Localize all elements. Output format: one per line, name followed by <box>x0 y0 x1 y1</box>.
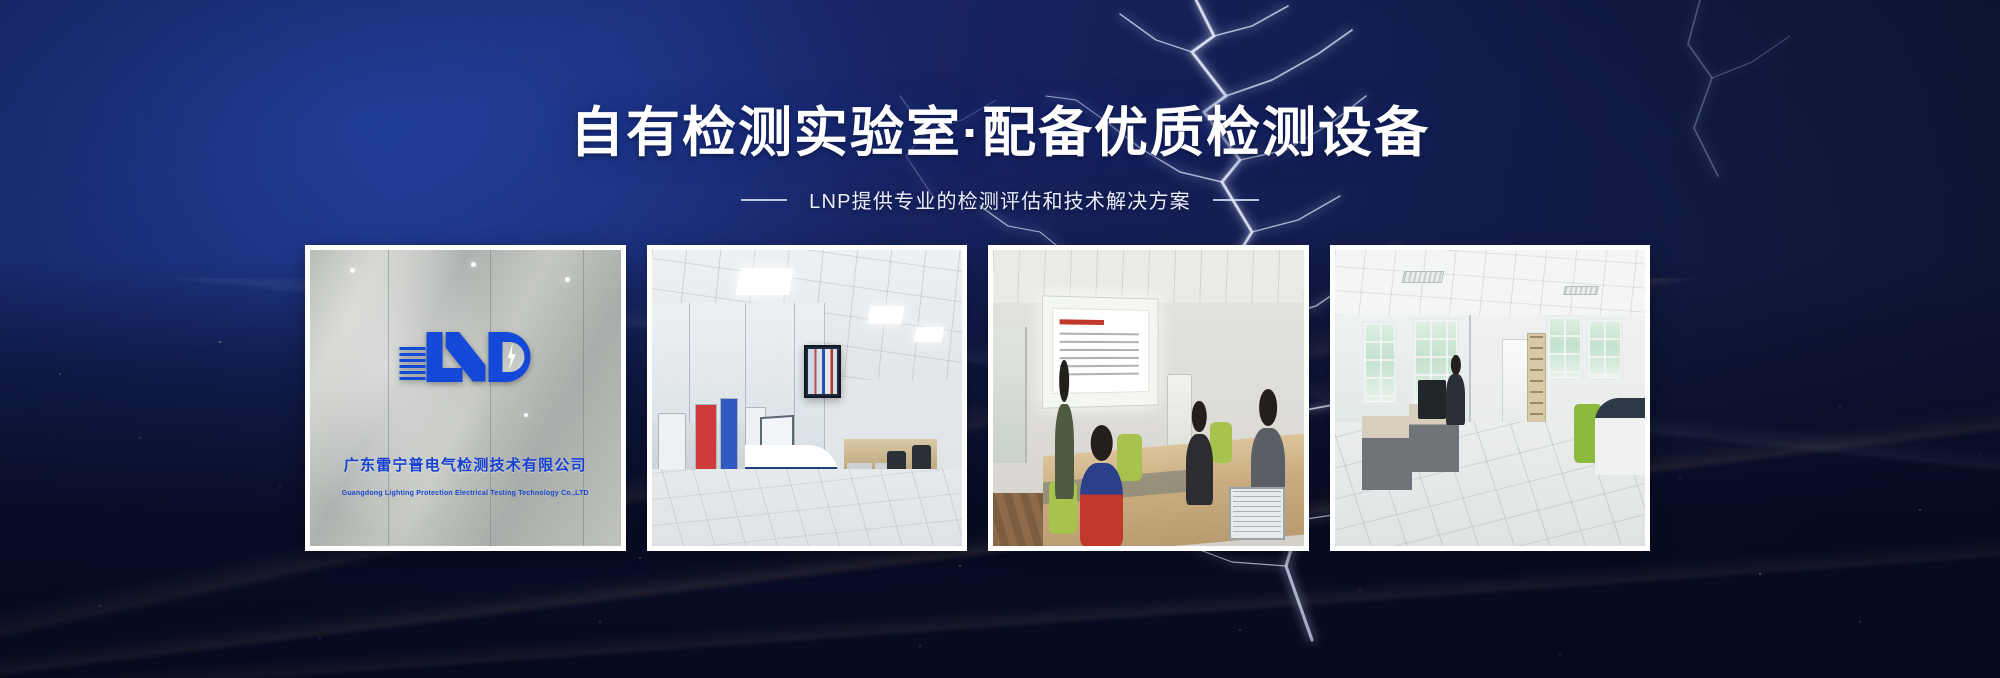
rule-right-icon <box>1213 199 1259 201</box>
lnp-logo-icon <box>400 332 531 382</box>
projection-screen <box>1042 296 1159 409</box>
ceiling-light-icon <box>524 413 528 417</box>
ceiling-vent <box>1563 286 1599 295</box>
glass-mullion <box>794 303 795 469</box>
logo-letter-p <box>489 332 531 382</box>
window-grid <box>1364 323 1394 402</box>
ceiling-light-panel <box>914 327 945 342</box>
gallery-card-office[interactable] <box>1330 245 1651 551</box>
testing-laboratory-photo <box>652 250 963 546</box>
wall-seam <box>583 250 584 546</box>
green-chair <box>1210 422 1232 463</box>
office-area-photo <box>1335 250 1646 546</box>
company-name-en: Guangdong Lighting Protection Electrical… <box>342 490 589 497</box>
window <box>1546 315 1583 380</box>
frosted-glass-door <box>993 327 1027 463</box>
page-subtitle: LNP提供专业的检测评估和技术解决方案 <box>809 185 1191 214</box>
wall-monitor <box>804 345 841 398</box>
person-head <box>1090 425 1113 461</box>
office-desk <box>1362 416 1412 490</box>
ceiling-light-panel <box>867 306 904 324</box>
training-meeting-photo <box>993 250 1304 546</box>
lightning-bolt-icon <box>506 343 518 371</box>
ceiling-light-panel <box>736 268 793 295</box>
hero-banner: 自有检测实验室·配备优质检测设备 LNP提供专业的检测评估和技术解决方案 <box>0 0 2000 678</box>
wall-seam <box>388 250 389 546</box>
logo-bars-icon <box>400 347 426 382</box>
green-chair <box>1117 434 1142 481</box>
bookshelf <box>1527 333 1546 434</box>
person-head <box>1259 389 1277 425</box>
ceiling-grid <box>993 250 1304 303</box>
gallery-card-meeting-room[interactable] <box>988 245 1309 551</box>
laptop-icon <box>1229 487 1285 540</box>
company-signage-photo: 广东雷宁普电气检测技术有限公司 Guangdong Lighting Prote… <box>310 250 621 546</box>
presenter <box>1055 404 1074 499</box>
subtitle-row: LNP提供专业的检测评估和技术解决方案 <box>0 185 2000 214</box>
window-grid <box>1588 320 1621 378</box>
attendee-red <box>1080 463 1123 546</box>
window-grid <box>1548 317 1581 378</box>
office-worker <box>1446 374 1465 424</box>
desktop-monitor <box>1418 380 1446 418</box>
window <box>1586 318 1623 380</box>
logo-letter-l <box>427 332 443 382</box>
ceiling-grid <box>1335 250 1646 315</box>
headline-block: 自有检测实验室·配备优质检测设备 LNP提供专业的检测评估和技术解决方案 <box>0 104 2000 214</box>
gallery-card-company-sign[interactable]: 广东雷宁普电气检测技术有限公司 Guangdong Lighting Prote… <box>305 245 626 551</box>
attendee-dark <box>1186 434 1214 505</box>
person-head <box>1192 401 1207 432</box>
reception-counter <box>1595 398 1645 475</box>
photo-gallery: 广东雷宁普电气检测技术有限公司 Guangdong Lighting Prote… <box>305 245 1650 551</box>
tiled-floor <box>652 469 963 546</box>
ceiling-vent <box>1402 271 1445 283</box>
wall-highlight <box>310 250 496 546</box>
window <box>1362 321 1396 404</box>
wall-seam <box>490 250 491 546</box>
page-title: 自有检测实验室·配备优质检测设备 <box>0 104 2000 163</box>
gallery-card-testing-lab[interactable] <box>647 245 968 551</box>
rule-left-icon <box>741 199 787 201</box>
person-head <box>1060 360 1070 402</box>
ceiling-light-icon <box>565 277 570 282</box>
company-name-cn: 广东雷宁普电气检测技术有限公司 <box>344 454 587 475</box>
